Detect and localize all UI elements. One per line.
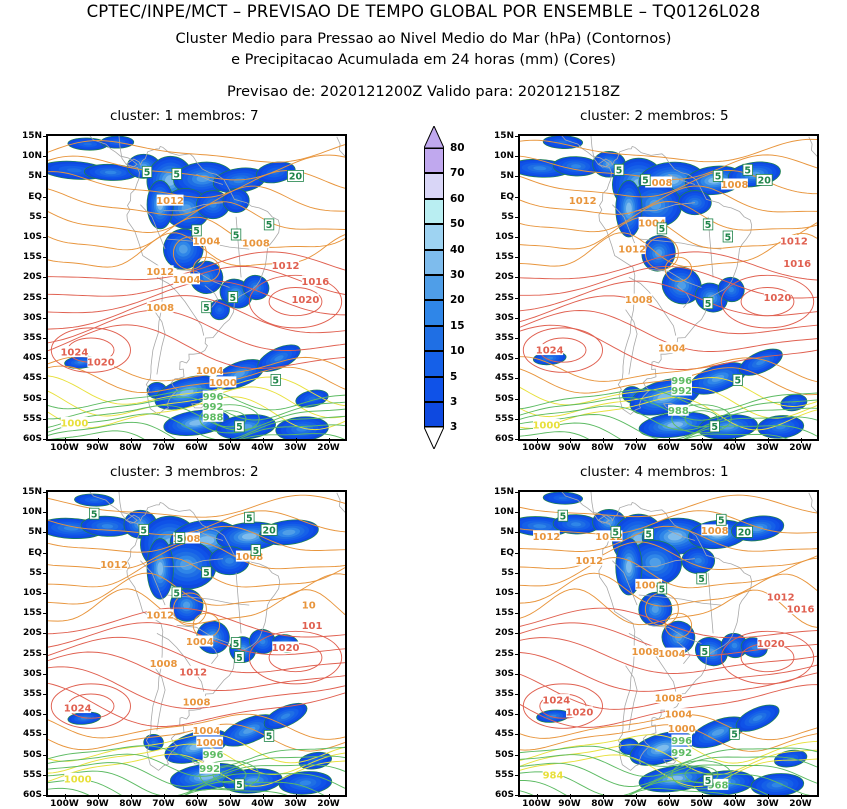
y-axis-tick bbox=[515, 654, 520, 655]
map-panel-cluster-3[interactable]: 1012100810081010110121004102010081012102… bbox=[46, 490, 347, 797]
x-axis-tick bbox=[98, 438, 99, 443]
svg-text:5: 5 bbox=[734, 376, 741, 387]
colorbar-tick-label: 40 bbox=[450, 244, 465, 256]
colorbar-tick-label: 30 bbox=[450, 269, 465, 281]
svg-text:1020: 1020 bbox=[291, 295, 319, 306]
y-axis-tick bbox=[43, 553, 48, 554]
y-axis-tick-label: 30S bbox=[4, 313, 42, 323]
y-axis-tick-label: 15N bbox=[4, 487, 42, 497]
svg-text:5: 5 bbox=[193, 226, 200, 237]
x-axis-tick-label: 50W bbox=[690, 799, 712, 809]
y-axis-tick-label: 15N bbox=[476, 487, 514, 497]
y-axis-tick bbox=[43, 439, 48, 440]
panel-caption-cluster-4: cluster: 4 membros: 1 bbox=[580, 464, 729, 480]
y-axis-tick-label: 45S bbox=[4, 729, 42, 739]
y-axis-tick bbox=[43, 378, 48, 379]
svg-text:5: 5 bbox=[718, 516, 725, 527]
y-axis-tick bbox=[515, 553, 520, 554]
y-axis-tick-label: 10S bbox=[4, 588, 42, 598]
svg-text:5: 5 bbox=[642, 176, 649, 187]
y-axis-tick-label: 15N bbox=[4, 131, 42, 141]
svg-text:5: 5 bbox=[173, 170, 180, 181]
svg-text:996: 996 bbox=[203, 750, 224, 761]
svg-text:5: 5 bbox=[236, 653, 243, 664]
x-axis-tick-label: 70W bbox=[624, 443, 646, 453]
x-axis-tick bbox=[702, 794, 703, 799]
svg-text:5: 5 bbox=[236, 422, 243, 433]
svg-text:5: 5 bbox=[272, 376, 279, 387]
svg-text:5: 5 bbox=[645, 530, 652, 541]
map-panel-cluster-1[interactable]: 1012100410081012100410121016102010081024… bbox=[46, 134, 347, 441]
svg-text:1012: 1012 bbox=[569, 196, 597, 207]
y-axis-tick bbox=[43, 338, 48, 339]
y-axis-tick bbox=[43, 136, 48, 137]
svg-text:5: 5 bbox=[725, 232, 732, 243]
y-axis-tick bbox=[515, 197, 520, 198]
svg-text:1004: 1004 bbox=[664, 710, 692, 721]
x-axis-tick-label: 20W bbox=[789, 443, 811, 453]
x-axis-tick bbox=[669, 438, 670, 443]
svg-text:1004: 1004 bbox=[192, 237, 220, 248]
x-axis-tick-label: 70W bbox=[152, 443, 174, 453]
y-axis-tick bbox=[43, 237, 48, 238]
y-axis-tick bbox=[43, 633, 48, 634]
svg-text:20: 20 bbox=[738, 528, 752, 539]
y-axis-tick-label: 60S bbox=[4, 434, 42, 444]
y-axis-tick bbox=[515, 512, 520, 513]
y-axis-tick-label: 50S bbox=[4, 394, 42, 404]
x-axis-tick-label: 100W bbox=[522, 443, 551, 453]
x-axis-tick bbox=[65, 794, 66, 799]
x-axis-tick bbox=[636, 794, 637, 799]
x-axis-tick bbox=[570, 794, 571, 799]
x-axis-tick bbox=[768, 438, 769, 443]
x-axis-tick bbox=[65, 438, 66, 443]
x-axis-tick bbox=[197, 794, 198, 799]
svg-text:1000: 1000 bbox=[60, 418, 88, 429]
svg-text:1024: 1024 bbox=[60, 348, 88, 359]
svg-text:5: 5 bbox=[229, 293, 236, 304]
svg-text:1016: 1016 bbox=[783, 259, 811, 270]
y-axis-tick bbox=[515, 399, 520, 400]
x-axis-tick bbox=[230, 438, 231, 443]
y-axis-tick-label: 5N bbox=[4, 171, 42, 181]
svg-text:1024: 1024 bbox=[542, 696, 570, 707]
x-axis-tick-label: 30W bbox=[284, 799, 306, 809]
x-axis-tick bbox=[131, 794, 132, 799]
y-axis-tick-label: 20S bbox=[4, 628, 42, 638]
svg-text:992: 992 bbox=[671, 748, 692, 759]
svg-text:992: 992 bbox=[671, 386, 692, 397]
x-axis-tick bbox=[603, 438, 604, 443]
svg-text:5: 5 bbox=[173, 588, 180, 599]
colorbar: 807060504030201510533 bbox=[424, 148, 484, 448]
svg-text:5: 5 bbox=[744, 166, 751, 177]
y-axis-tick bbox=[515, 318, 520, 319]
y-axis-tick bbox=[515, 136, 520, 137]
y-axis-tick-label: 60S bbox=[4, 790, 42, 800]
svg-text:5: 5 bbox=[140, 526, 147, 537]
y-axis-tick bbox=[515, 277, 520, 278]
y-axis-tick-label: 15S bbox=[4, 608, 42, 618]
y-axis-tick bbox=[515, 298, 520, 299]
svg-text:5: 5 bbox=[616, 166, 623, 177]
svg-text:1012: 1012 bbox=[780, 237, 808, 248]
y-axis-tick-label: 25S bbox=[4, 649, 42, 659]
y-axis-tick bbox=[515, 633, 520, 634]
svg-text:1016: 1016 bbox=[787, 605, 815, 616]
y-axis-tick bbox=[43, 755, 48, 756]
y-axis-tick-label: 10N bbox=[4, 507, 42, 517]
y-axis-tick-label: 55S bbox=[4, 770, 42, 780]
colorbar-swatch bbox=[424, 351, 444, 376]
x-axis-tick-label: 70W bbox=[152, 799, 174, 809]
y-axis-tick bbox=[43, 714, 48, 715]
y-axis-tick-label: 60S bbox=[476, 790, 514, 800]
x-axis-tick-label: 50W bbox=[690, 443, 712, 453]
svg-text:5: 5 bbox=[612, 528, 619, 539]
y-axis-tick-label: 10S bbox=[476, 588, 514, 598]
svg-text:5: 5 bbox=[233, 639, 240, 650]
svg-text:1004: 1004 bbox=[186, 637, 214, 648]
svg-text:5: 5 bbox=[203, 568, 210, 579]
colorbar-tick-label: 3 bbox=[450, 396, 457, 408]
svg-text:1012: 1012 bbox=[146, 611, 174, 622]
svg-text:1008: 1008 bbox=[625, 295, 653, 306]
map-panel-cluster-4[interactable]: 1012101210081012100410121016102010081004… bbox=[518, 490, 819, 797]
y-axis-tick-label: 50S bbox=[476, 750, 514, 760]
panel-caption-cluster-3: cluster: 3 membros: 2 bbox=[110, 464, 259, 480]
svg-text:1008: 1008 bbox=[150, 659, 178, 670]
x-axis-tick-label: 60W bbox=[657, 799, 679, 809]
x-axis-tick bbox=[702, 438, 703, 443]
svg-text:1012: 1012 bbox=[100, 560, 128, 571]
y-axis-tick bbox=[515, 492, 520, 493]
colorbar-swatch bbox=[424, 148, 444, 173]
y-axis-tick-label: 55S bbox=[4, 414, 42, 424]
y-axis-tick bbox=[515, 439, 520, 440]
svg-text:1008: 1008 bbox=[146, 303, 174, 314]
svg-text:1000: 1000 bbox=[64, 774, 92, 785]
svg-text:1004: 1004 bbox=[192, 726, 220, 737]
y-axis-tick bbox=[515, 176, 520, 177]
svg-text:20: 20 bbox=[262, 526, 276, 537]
svg-text:5: 5 bbox=[715, 172, 722, 183]
svg-text:1000: 1000 bbox=[532, 420, 560, 431]
svg-text:1024: 1024 bbox=[536, 346, 564, 357]
svg-text:5: 5 bbox=[711, 422, 718, 433]
panel-caption-cluster-2: cluster: 2 membros: 5 bbox=[580, 108, 729, 124]
x-axis-tick bbox=[801, 438, 802, 443]
svg-text:1004: 1004 bbox=[173, 275, 201, 286]
svg-text:1012: 1012 bbox=[767, 593, 795, 604]
y-axis-tick bbox=[515, 775, 520, 776]
x-axis-tick-label: 20W bbox=[789, 799, 811, 809]
svg-text:1008: 1008 bbox=[631, 647, 659, 658]
colorbar-swatch bbox=[424, 300, 444, 325]
colorbar-tick-label: 80 bbox=[450, 142, 465, 154]
y-axis-tick-label: 10N bbox=[4, 151, 42, 161]
y-axis-tick-label: 5S bbox=[4, 568, 42, 578]
x-axis-tick bbox=[98, 794, 99, 799]
y-axis-tick bbox=[515, 156, 520, 157]
y-axis-tick-label: 5N bbox=[4, 527, 42, 537]
y-axis-tick bbox=[43, 694, 48, 695]
svg-text:1020: 1020 bbox=[272, 643, 300, 654]
svg-text:1008: 1008 bbox=[655, 694, 683, 705]
svg-text:1000: 1000 bbox=[209, 378, 237, 389]
x-axis-tick-label: 20W bbox=[317, 443, 339, 453]
svg-text:5: 5 bbox=[705, 776, 712, 787]
x-axis-tick-label: 90W bbox=[86, 799, 108, 809]
page-title: CPTEC/INPE/MCT – PREVISAO DE TEMPO GLOBA… bbox=[0, 2, 847, 21]
colorbar-arrow-high bbox=[424, 126, 444, 148]
x-axis-tick-label: 80W bbox=[591, 799, 613, 809]
svg-text:1008: 1008 bbox=[701, 526, 729, 537]
svg-text:1012: 1012 bbox=[532, 532, 560, 543]
y-axis-tick bbox=[43, 318, 48, 319]
y-axis-tick bbox=[43, 593, 48, 594]
y-axis-tick bbox=[515, 532, 520, 533]
x-axis-tick-label: 70W bbox=[624, 799, 646, 809]
y-axis-tick bbox=[515, 694, 520, 695]
x-axis-tick-label: 30W bbox=[756, 799, 778, 809]
x-axis-tick bbox=[164, 794, 165, 799]
x-axis-tick bbox=[164, 438, 165, 443]
svg-text:5: 5 bbox=[144, 168, 151, 179]
y-axis-tick-label: 5S bbox=[4, 212, 42, 222]
y-axis-tick-label: 30S bbox=[476, 669, 514, 679]
y-axis-tick-label: 40S bbox=[476, 709, 514, 719]
y-axis-tick bbox=[43, 419, 48, 420]
svg-text:1008: 1008 bbox=[242, 239, 270, 250]
svg-text:988: 988 bbox=[203, 412, 224, 423]
svg-text:20: 20 bbox=[758, 176, 772, 187]
svg-text:1004: 1004 bbox=[196, 366, 224, 377]
y-axis-tick bbox=[515, 573, 520, 574]
x-axis-tick bbox=[230, 794, 231, 799]
y-axis-tick bbox=[43, 156, 48, 157]
svg-text:5: 5 bbox=[701, 647, 708, 658]
y-axis-tick bbox=[43, 217, 48, 218]
colorbar-tick-label: 20 bbox=[450, 294, 465, 306]
svg-text:5: 5 bbox=[731, 730, 738, 741]
y-axis-tick bbox=[43, 795, 48, 796]
forecast-run-line: Previsao de: 2020121200Z Valido para: 20… bbox=[0, 84, 847, 100]
y-axis-tick bbox=[515, 593, 520, 594]
svg-text:5: 5 bbox=[659, 224, 666, 235]
colorbar-tick-label: 70 bbox=[450, 167, 465, 179]
colorbar-swatch bbox=[424, 275, 444, 300]
x-axis-tick bbox=[669, 794, 670, 799]
y-axis-tick bbox=[515, 734, 520, 735]
svg-text:1020: 1020 bbox=[87, 358, 115, 369]
y-axis-tick bbox=[515, 358, 520, 359]
y-axis-tick-label: 5N bbox=[476, 527, 514, 537]
x-axis-tick bbox=[735, 794, 736, 799]
svg-text:1016: 1016 bbox=[301, 277, 329, 288]
y-axis-tick bbox=[43, 734, 48, 735]
svg-text:10: 10 bbox=[302, 601, 316, 612]
x-axis-tick-label: 90W bbox=[558, 443, 580, 453]
colorbar-tick-label: 5 bbox=[450, 371, 457, 383]
x-axis-tick bbox=[603, 794, 604, 799]
y-axis-tick-label: 15S bbox=[476, 608, 514, 618]
svg-text:5: 5 bbox=[659, 584, 666, 595]
svg-text:5: 5 bbox=[266, 220, 273, 231]
x-axis-tick bbox=[197, 438, 198, 443]
svg-text:5: 5 bbox=[253, 546, 260, 557]
y-axis-tick bbox=[515, 419, 520, 420]
x-axis-tick bbox=[329, 794, 330, 799]
y-axis-tick bbox=[43, 674, 48, 675]
y-axis-tick-label: EQ bbox=[476, 548, 514, 558]
x-axis-tick-label: 40W bbox=[723, 799, 745, 809]
y-axis-tick-label: 25S bbox=[476, 649, 514, 659]
svg-text:101: 101 bbox=[302, 621, 323, 632]
svg-text:1008: 1008 bbox=[183, 698, 211, 709]
y-axis-tick bbox=[515, 338, 520, 339]
y-axis-tick-label: 40S bbox=[4, 353, 42, 363]
svg-text:5: 5 bbox=[560, 512, 567, 523]
x-axis-tick-label: 90W bbox=[558, 799, 580, 809]
svg-text:1020: 1020 bbox=[757, 639, 785, 650]
y-axis-tick-label: EQ bbox=[4, 548, 42, 558]
svg-text:5: 5 bbox=[203, 303, 210, 314]
x-axis-tick bbox=[735, 438, 736, 443]
y-axis-tick bbox=[515, 674, 520, 675]
svg-text:1012: 1012 bbox=[146, 267, 174, 278]
svg-text:1008: 1008 bbox=[721, 180, 749, 191]
x-axis-tick-label: 40W bbox=[723, 443, 745, 453]
colorbar-swatch bbox=[424, 377, 444, 402]
colorbar-swatch bbox=[424, 199, 444, 224]
svg-text:1020: 1020 bbox=[763, 293, 791, 304]
x-axis-tick-label: 80W bbox=[119, 799, 141, 809]
y-axis-tick bbox=[43, 298, 48, 299]
x-axis-tick-label: 20W bbox=[317, 799, 339, 809]
x-axis-tick-label: 100W bbox=[522, 799, 551, 809]
y-axis-tick bbox=[43, 654, 48, 655]
colorbar-tick-label: 15 bbox=[450, 320, 465, 332]
y-axis-tick-label: 30S bbox=[4, 669, 42, 679]
colorbar-swatch bbox=[424, 402, 444, 427]
svg-text:5: 5 bbox=[705, 299, 712, 310]
colorbar-tick-label: 50 bbox=[450, 218, 465, 230]
x-axis-tick-label: 40W bbox=[251, 799, 273, 809]
y-axis-tick-label: 10S bbox=[4, 232, 42, 242]
svg-text:5: 5 bbox=[91, 510, 98, 521]
y-axis-tick bbox=[515, 378, 520, 379]
y-axis-tick-label: 25S bbox=[4, 293, 42, 303]
y-axis-tick-label: 55S bbox=[476, 770, 514, 780]
y-axis-tick-label: 20S bbox=[4, 272, 42, 282]
y-axis-tick bbox=[515, 613, 520, 614]
svg-text:1004: 1004 bbox=[658, 649, 686, 660]
x-axis-tick-label: 50W bbox=[218, 443, 240, 453]
svg-text:1012: 1012 bbox=[179, 667, 207, 678]
colorbar-swatch bbox=[424, 250, 444, 275]
svg-text:5: 5 bbox=[246, 514, 253, 525]
svg-text:1012: 1012 bbox=[272, 261, 300, 272]
y-axis-tick-label: 45S bbox=[4, 373, 42, 383]
x-axis-tick-label: 80W bbox=[119, 443, 141, 453]
y-axis-tick bbox=[515, 217, 520, 218]
y-axis-tick bbox=[43, 257, 48, 258]
y-axis-tick-label: 35S bbox=[476, 689, 514, 699]
colorbar-tick-label-min: 3 bbox=[450, 421, 457, 433]
y-axis-tick bbox=[43, 176, 48, 177]
y-axis-tick-label: 20S bbox=[476, 628, 514, 638]
y-axis-tick-label: 40S bbox=[4, 709, 42, 719]
x-axis-tick-label: 30W bbox=[284, 443, 306, 453]
svg-text:988: 988 bbox=[668, 406, 689, 417]
x-axis-tick bbox=[263, 438, 264, 443]
colorbar-tick-label: 60 bbox=[450, 193, 465, 205]
y-axis-tick-label: 5S bbox=[476, 568, 514, 578]
x-axis-tick-label: 80W bbox=[591, 443, 613, 453]
colorbar-swatch bbox=[424, 173, 444, 198]
y-axis-tick bbox=[43, 277, 48, 278]
y-axis-tick bbox=[43, 399, 48, 400]
x-axis-tick bbox=[329, 438, 330, 443]
colorbar-tick-label: 10 bbox=[450, 345, 465, 357]
y-axis-tick bbox=[515, 237, 520, 238]
y-axis-tick bbox=[43, 512, 48, 513]
svg-text:5: 5 bbox=[705, 220, 712, 231]
y-axis-tick bbox=[43, 573, 48, 574]
x-axis-tick-label: 40W bbox=[251, 443, 273, 453]
x-axis-tick bbox=[263, 794, 264, 799]
x-axis-tick bbox=[768, 794, 769, 799]
x-axis-tick-label: 100W bbox=[50, 443, 79, 453]
colorbar-arrow-low bbox=[424, 427, 444, 449]
x-axis-tick bbox=[131, 438, 132, 443]
y-axis-tick-label: 15S bbox=[4, 252, 42, 262]
x-axis-tick-label: 50W bbox=[218, 799, 240, 809]
y-axis-tick bbox=[515, 257, 520, 258]
y-axis-tick-label: 15N bbox=[476, 131, 514, 141]
x-axis-tick bbox=[296, 438, 297, 443]
svg-text:5: 5 bbox=[177, 534, 184, 545]
y-axis-tick bbox=[43, 197, 48, 198]
x-axis-tick-label: 60W bbox=[185, 443, 207, 453]
x-axis-tick-label: 60W bbox=[185, 799, 207, 809]
x-axis-tick bbox=[537, 794, 538, 799]
y-axis-tick bbox=[43, 775, 48, 776]
svg-text:984: 984 bbox=[543, 770, 564, 781]
svg-text:20: 20 bbox=[289, 172, 303, 183]
y-axis-tick bbox=[515, 755, 520, 756]
panel-caption-cluster-1: cluster: 1 membros: 7 bbox=[110, 108, 259, 124]
svg-text:1012: 1012 bbox=[618, 245, 646, 256]
svg-text:5: 5 bbox=[233, 230, 240, 241]
x-axis-tick bbox=[570, 438, 571, 443]
x-axis-tick-label: 30W bbox=[756, 443, 778, 453]
map-panel-cluster-2[interactable]: 1012100410081008101210121016102010081024… bbox=[518, 134, 819, 441]
y-axis-tick bbox=[43, 492, 48, 493]
svg-text:1012: 1012 bbox=[156, 196, 184, 207]
x-axis-tick bbox=[801, 794, 802, 799]
y-axis-tick-label: 35S bbox=[4, 689, 42, 699]
colorbar-swatch bbox=[424, 224, 444, 249]
y-axis-tick-label: 45S bbox=[476, 729, 514, 739]
svg-text:1012: 1012 bbox=[575, 556, 603, 567]
svg-text:1020: 1020 bbox=[565, 708, 593, 719]
x-axis-tick-label: 100W bbox=[50, 799, 79, 809]
y-axis-tick-label: 35S bbox=[4, 333, 42, 343]
svg-text:5: 5 bbox=[236, 780, 243, 791]
